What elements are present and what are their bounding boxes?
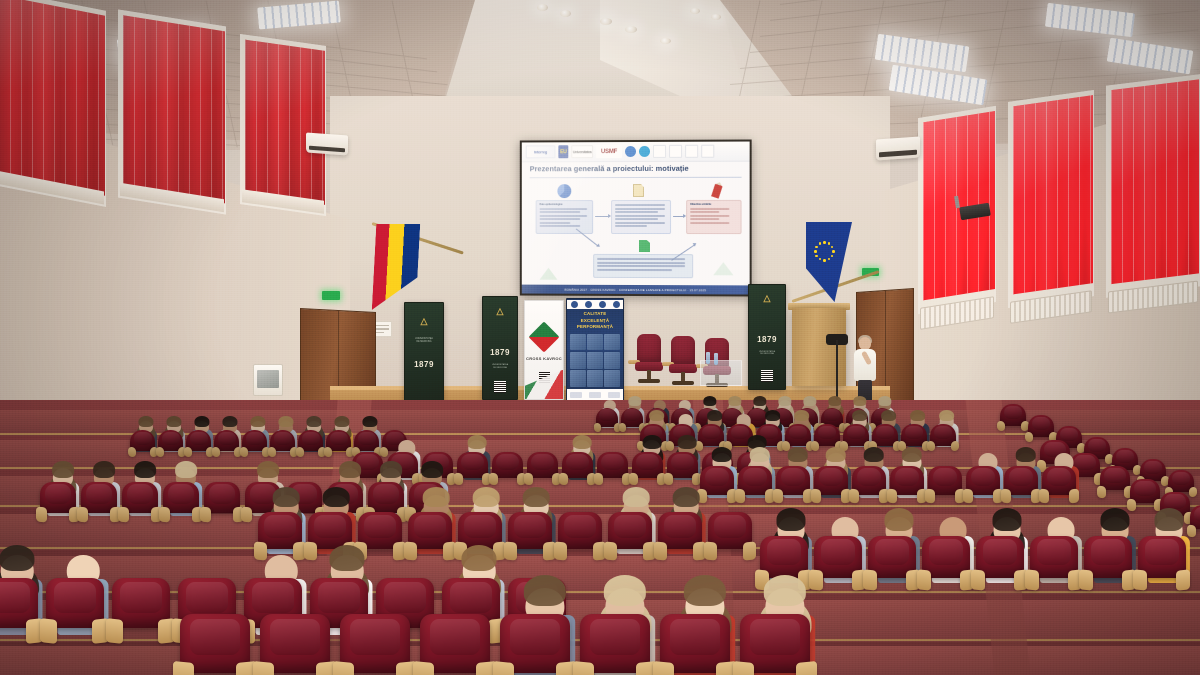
auditorium-seat[interactable] [214,430,239,459]
wall-control-panel[interactable] [253,364,283,396]
audience-hair [881,410,897,422]
auditorium-seat[interactable] [81,482,117,525]
seat-armrest-left [653,660,674,675]
auditorium-seat[interactable] [186,430,211,459]
rollup-university-right: △ 1879 UNIVERSITATEA DE MEDICINĂ [748,284,786,390]
auditorium-seat[interactable] [596,408,618,434]
eu-star [831,246,834,249]
university-logo: Universitatea [571,145,593,158]
auditorium-seat[interactable] [204,482,240,525]
eu-star [815,255,818,258]
slide-title: Prezentarea generală a proiectului: moti… [530,164,742,177]
audience-hair [66,545,101,572]
auditorium-seat[interactable] [408,512,452,564]
audience-hair [884,508,913,530]
audience-hair [649,410,665,422]
auditorium-seat[interactable] [814,466,848,506]
seat-armrest-left [200,506,211,522]
audience-hair [794,410,810,422]
blind-sheen [123,15,225,203]
slide-footer: ROMÂNIA 2027 · CROSS KAVROC · CONFERINȚA… [522,285,750,295]
audience-hair [678,410,694,422]
eu-star [814,250,817,253]
seat-armrest-left [1039,489,1049,504]
seat-armrest-left [173,660,194,675]
seat-armrest-left [106,618,123,644]
audience-hair [467,435,486,449]
audience-hair [604,575,646,607]
auditorium-seat[interactable] [632,452,663,488]
window-left-2 [118,9,226,214]
blind-sheen [0,0,105,196]
audience-hair [278,416,293,427]
auditorium-seat[interactable] [890,466,924,506]
auditorium-seat[interactable] [340,614,410,675]
audience-hair [753,396,766,406]
seat-armrest-left [333,660,354,675]
audience-hair [728,396,741,406]
water-bottle-1 [706,352,710,364]
auditorium-seat[interactable] [708,512,752,564]
auditorium-seat[interactable] [1190,505,1200,539]
eu-star [828,242,831,245]
audience-hair [853,396,866,406]
seat-armrest-left [927,441,935,452]
auditorium-seat[interactable] [922,536,970,594]
auditorium-seat[interactable] [660,614,730,675]
audience-hair [524,575,566,607]
seat-armrest-right [796,660,817,675]
audience-hair [334,416,349,427]
audience-hair [93,461,115,478]
seat-armrest-left [159,506,170,522]
window-right-3 [1106,74,1200,298]
box-objective: Obiective urmărite [686,200,741,234]
audience-hair [939,410,955,422]
audience-hair [0,545,35,572]
audience-hair [339,461,361,478]
auditorium-seat[interactable] [966,466,1000,506]
auditorium-seat[interactable] [0,578,38,648]
auditorium-seat[interactable] [558,512,602,564]
auditorium-seat[interactable] [667,452,698,488]
pencil-icon [711,181,724,199]
ceiling-spotlight [625,26,637,33]
seat-armrest-left [1025,432,1033,443]
seat-armrest-left [917,569,931,590]
auditorium-seat[interactable] [1084,536,1132,594]
window-blinds-left-1[interactable] [0,0,105,196]
document-icon [633,184,644,197]
qr-code-mid [494,381,506,393]
audience-hair [421,461,443,478]
audience-hair [166,416,181,427]
arrow-a-to-b [595,216,609,217]
projection-screen: Interreg EU Universitatea USMF Prezentar… [520,140,752,297]
seat-armrest-left [1025,569,1039,590]
eu-star [832,250,835,253]
seat-armrest-left [925,489,935,504]
window-right-2 [1008,90,1094,308]
seat-armrest-left [413,660,434,675]
seat-armrest-left [619,423,626,433]
seat-armrest-left [971,569,985,590]
box-need [611,200,671,234]
seat-armrest-left [212,446,220,457]
window-blinds-right-2[interactable] [1013,95,1093,294]
exit-sign-left [322,291,340,300]
box-context: Date epidemiologice [536,200,594,234]
auditorium-seat[interactable] [930,424,956,454]
auditorium-seat[interactable] [260,614,330,675]
auditorium-seat[interactable] [420,614,490,675]
audience-hair [803,396,816,406]
auditorium-seat[interactable] [868,536,916,594]
auditorium-seat[interactable] [326,430,351,459]
audience-hair [194,416,209,427]
auditorium-seat[interactable] [242,430,267,459]
audience-hair [901,447,922,462]
seat-armrest-left [773,489,783,504]
audience-hair [653,396,666,406]
decor-triangle-right [713,262,733,275]
seat-armrest-left [36,506,47,522]
auditorium-seat[interactable] [928,466,962,506]
auditorium-seat[interactable] [112,578,170,648]
seat-armrest-right [1069,489,1079,504]
slide-logo-bar: Interreg EU Universitatea USMF [522,142,750,163]
air-conditioner-right [876,136,920,160]
seat-armrest-left [128,446,136,457]
audience-hair [1015,447,1036,462]
seat-armrest-right [743,541,756,560]
auditorium-seat[interactable] [852,466,886,506]
auditorium-seat[interactable] [597,452,628,488]
stage-side-table [700,360,742,386]
window-left-3 [240,34,326,216]
seat-armrest-left [489,472,498,485]
seat-armrest-left [704,541,717,560]
seat-armrest-left [404,541,417,560]
audience-hair [306,416,321,427]
seat-armrest-left [849,489,859,504]
blind-sheen [1013,95,1093,294]
blind-sheen [1111,79,1199,284]
audience-hair [678,396,691,406]
audience-hair [878,396,891,406]
auditorium-seat[interactable] [1004,466,1038,506]
eu-star [823,241,826,244]
audience-hair [423,487,450,507]
audience-hair [852,410,868,422]
auditorium-seat[interactable] [776,466,810,506]
seat-armrest-left [863,569,877,590]
auditorium-seat[interactable] [1138,536,1186,594]
auditorium-seat[interactable] [658,512,702,564]
rollup-university-mid: △ 1879 UNIVERSITATEA DE MEDICINĂ [482,296,518,400]
audience-hair [825,447,846,462]
seat-armrest-left [184,446,192,457]
auditorium-seat[interactable] [740,614,810,675]
quality-banner-photo-grid [570,334,619,387]
seat-armrest-left [118,506,129,522]
box-summary [593,254,693,278]
audience-hair [778,396,791,406]
auditorium-seat[interactable] [738,466,772,506]
audience-hair [273,487,300,507]
audience-hair [673,487,700,507]
audience-hair [736,410,752,422]
audience-hair [250,416,265,427]
eu-star [819,242,822,245]
auditorium-seat[interactable] [814,536,862,594]
ceiling-spotlight [711,14,721,20]
crest-icon-mid: △ [497,307,504,316]
audience-hair [462,545,497,572]
rollup-cross-kavroc: CROSS KAVROC [524,300,564,400]
audience-hair [138,416,153,427]
seat-armrest-left [156,446,164,457]
rollup-university-left: △ UNIVERSITATEA DE MEDICINĂ 1879 [404,302,444,402]
audience-hair [134,461,156,478]
auditorium-photo: Interreg EU Universitatea USMF Prezentar… [0,0,1200,675]
seat-armrest-left [240,446,248,457]
auditorium-seat[interactable] [40,482,76,525]
blind-sheen [245,40,325,205]
audience-hair [677,435,696,449]
audience-hair [1100,508,1129,530]
audience-hair [992,508,1021,530]
auditorium-seat[interactable] [508,512,552,564]
window-blinds-left-2[interactable] [123,15,225,203]
ceiling-spotlight [600,18,612,25]
partner-logo-4 [669,145,682,158]
auditorium-seat[interactable] [457,452,488,488]
quality-banner-headline: CALITATE EXCELENȚĂ PERFORMANȚĂ [567,311,623,331]
auditorium-seat[interactable] [608,512,652,564]
crest-icon-left: △ [421,317,428,326]
audience-hair [623,487,650,507]
auditorium-seat[interactable] [527,452,558,488]
audience-hair [175,461,197,478]
auditorium-seat[interactable] [270,430,295,459]
window-blinds-right-3[interactable] [1111,79,1199,284]
seat-armrest-left [1079,569,1093,590]
audience-hair [362,416,377,427]
decor-triangle-left [540,268,558,280]
audience-hair [684,575,726,607]
audience-hair [749,447,770,462]
rollup-quality: CALITATE EXCELENȚĂ PERFORMANȚĂ [566,298,624,402]
seat-armrest-right [1176,569,1190,590]
seat-armrest-left [554,541,567,560]
seat-armrest-left [268,446,276,457]
ceiling-spotlight [660,38,671,44]
seat-armrest-left [887,489,897,504]
audience-hair [330,545,365,572]
audience-hair [830,508,859,530]
seat-armrest-left [559,472,568,485]
audience-hair [828,396,841,406]
seat-armrest-left [594,472,603,485]
audience-hair [764,575,806,607]
quality-banner-logos [567,300,623,309]
qr-code-right [761,370,773,382]
audience-hair [222,416,237,427]
water-bottle-2 [714,353,718,365]
seat-armrest-left [604,541,617,560]
eu-star [831,255,834,258]
crest-icon-right: △ [764,294,771,303]
interreg-logo: Interreg [526,145,556,158]
ceiling-spotlight [560,10,571,17]
audience-hair [380,461,402,478]
audience-hair [628,396,641,406]
ceiling-spotlight [537,4,548,11]
seat-armrest-left [735,489,745,504]
audience-hair [1053,447,1074,462]
partner-logo-1 [625,146,636,157]
seat-armrest-left [454,472,463,485]
audience-hair [642,435,661,449]
auditorium-seat[interactable] [130,430,155,459]
partner-logo-5 [685,145,698,158]
auditorium-seat[interactable] [976,536,1024,594]
air-conditioner-left [306,133,348,156]
audience-hair [787,447,808,462]
seat-armrest-left [594,423,601,433]
auditorium-seat[interactable] [580,614,650,675]
auditorium-seat[interactable] [1100,466,1130,500]
seat-armrest-left [573,660,594,675]
seat-armrest-left [296,446,304,457]
eu-flag-logo: EU [558,145,568,158]
audience-hair [776,508,805,530]
audience-hair [323,487,350,507]
auditorium-seat[interactable] [1030,536,1078,594]
seat-armrest-left [1133,569,1147,590]
audience-hair [703,396,716,406]
audience-hair [523,487,550,507]
auditorium-seat[interactable] [298,430,323,459]
audience-hair [707,410,723,422]
partner-logo-6 [701,145,714,158]
usmf-logo: USMF [596,145,622,158]
audience-hair [572,435,591,449]
auditorium-seat[interactable] [492,452,523,488]
audience-hair [1046,508,1075,530]
ceiling-spotlight [690,8,700,14]
audience-hair [473,487,500,507]
eu-star [815,246,818,249]
seat-armrest-left [253,660,274,675]
seat-armrest-left [997,421,1005,432]
auditorium-seat[interactable] [180,614,250,675]
seat-armrest-left [493,660,514,675]
partner-logo-3 [653,145,666,158]
audience-hair [711,447,732,462]
window-left-1 [0,0,106,207]
cross-kavroc-logo-icon [528,322,559,353]
seat-armrest-left [524,472,533,485]
seat-armrest-left [811,489,821,504]
eu-star [819,258,822,261]
audience-hair [52,461,74,478]
auditorium-seat[interactable] [500,614,570,675]
arrow-b-to-c [673,216,684,217]
audience-hair [603,396,616,406]
green-document-icon [639,240,650,252]
audience-hair [264,545,299,572]
eu-star [823,259,826,262]
auditorium-seat[interactable] [158,430,183,459]
seat-armrest-left [324,446,332,457]
seat-armrest-left [77,506,88,522]
auditorium-seat[interactable] [1000,404,1026,434]
seat-armrest-left [1001,489,1011,504]
seat-armrest-left [664,472,673,485]
seat-armrest-left [504,541,517,560]
seat-armrest-left [963,489,973,504]
eu-star [828,258,831,261]
audience-hair [863,447,884,462]
audience-hair [977,447,998,462]
window-blinds-left-3[interactable] [245,40,325,205]
seat-armrest-left [40,618,57,644]
seat-armrest-left [654,541,667,560]
pie-chart-icon [557,184,571,198]
partner-logo-2 [639,146,650,157]
audience-hair [257,461,279,478]
audience-hair [1154,508,1183,530]
auditorium-seat[interactable] [163,482,199,525]
slide-title-rule [530,177,742,178]
seat-armrest-left [241,506,252,522]
audience-hair [910,410,926,422]
audience-hair [397,435,416,449]
seat-armrest-left [1097,485,1106,497]
seat-armrest-left [629,472,638,485]
auditorium-seat[interactable] [122,482,158,525]
presentation-slide: Interreg EU Universitatea USMF Prezentar… [522,142,750,295]
audience-hair [938,508,967,530]
auditorium-seat[interactable] [562,452,593,488]
seat-armrest-left [733,660,754,675]
audience-hair [765,410,781,422]
auditorium-seat[interactable] [1042,466,1076,506]
auditorium-seat[interactable] [46,578,104,648]
